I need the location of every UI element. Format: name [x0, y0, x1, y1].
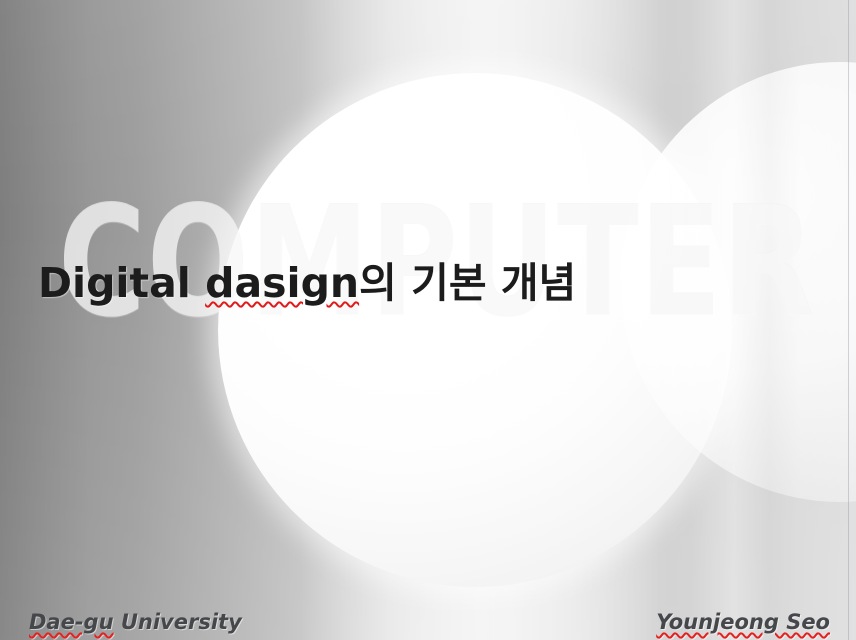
background-fold-highlight — [690, 0, 800, 640]
slide-title: Digital dasign의 기본 개념 — [38, 258, 778, 308]
right-edge-rule — [848, 0, 849, 640]
footer-institution-rest: University — [114, 610, 242, 634]
slide-title-block: Digital dasign의 기본 개념 — [38, 258, 778, 308]
presentation-slide: COMPUTER CAD COMPUTER CAD Digital dasign… — [0, 0, 856, 640]
footer-institution: Dae-gu University — [29, 610, 242, 634]
background-light-column — [300, 0, 660, 640]
footer-institution-misspelled: Dae-gu — [29, 610, 114, 634]
title-segment-korean: 의 기본 개념 — [359, 259, 576, 307]
title-segment-english: Digital — [38, 259, 205, 307]
background-sphere-main — [218, 73, 732, 587]
left-edge-vignette — [0, 0, 90, 640]
title-segment-misspelled: dasign — [205, 259, 359, 307]
footer-author: Younjeong Seo — [656, 610, 830, 634]
